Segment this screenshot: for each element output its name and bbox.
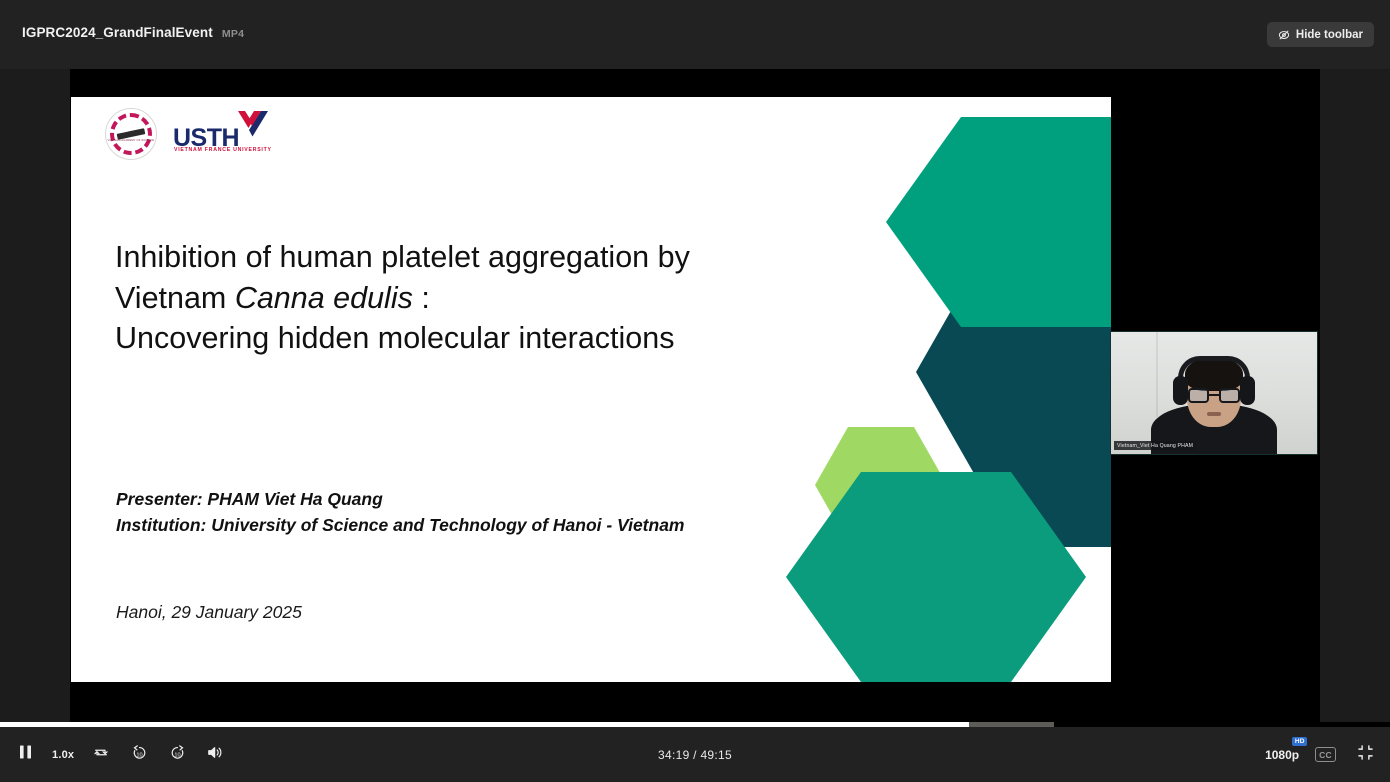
hd-badge: HD bbox=[1292, 737, 1307, 746]
webcam-wall-edge bbox=[1156, 332, 1158, 417]
hexagon-dark-teal bbox=[916, 197, 1111, 547]
hexagon-decoration-group bbox=[71, 97, 1111, 682]
usth-logo: USTH VIETNAM FRANCE UNIVERSITY bbox=[173, 111, 265, 157]
usth-chevron-icon bbox=[238, 111, 268, 137]
file-extension-badge: MP4 bbox=[222, 28, 245, 40]
forward-10-icon: 10 bbox=[169, 744, 186, 766]
slide-title-species: Canna edulis bbox=[235, 281, 413, 315]
slide-title-line-3: Uncovering hidden molecular interactions bbox=[115, 318, 815, 359]
presenter-name-line: Presenter: PHAM Viet Ha Quang bbox=[116, 487, 685, 513]
closed-captions-button[interactable]: CC bbox=[1315, 747, 1336, 762]
svg-text:10: 10 bbox=[136, 752, 142, 758]
time-display: 34:19 / 49:15 bbox=[658, 727, 732, 782]
rewind-10-icon: 10 bbox=[131, 744, 148, 766]
hexagon-teal-bottom bbox=[786, 472, 1086, 682]
usth-tagline: VIETNAM FRANCE UNIVERSITY bbox=[174, 147, 272, 153]
player-controls-right: 1080p HD CC bbox=[1265, 727, 1378, 782]
webcam-participant-label: Vietnam_Viet Ha Quang PHAM bbox=[1114, 441, 1196, 450]
file-title: IGPRC2024_GrandFinalEvent bbox=[22, 25, 213, 40]
player-controls-left: 1.0x 10 bbox=[12, 727, 228, 782]
quality-label: 1080p bbox=[1265, 748, 1299, 762]
presenter-block: Presenter: PHAM Viet Ha Quang Institutio… bbox=[116, 487, 685, 538]
slide-title-line-1: Inhibition of human platelet aggregation… bbox=[115, 237, 815, 278]
loop-icon bbox=[93, 745, 109, 765]
institution-line: Institution: University of Science and T… bbox=[116, 513, 685, 539]
file-title-group: IGPRC2024_GrandFinalEvent MP4 bbox=[22, 25, 244, 40]
hide-toolbar-button[interactable]: Hide toolbar bbox=[1267, 22, 1374, 47]
slide-date-line: Hanoi, 29 January 2025 bbox=[116, 602, 302, 623]
slide-logo-row: VIETNAM ACADEMY OF SCIENCE USTH VIETNAM … bbox=[105, 108, 265, 160]
rewind-10-button[interactable]: 10 bbox=[126, 742, 152, 768]
video-stage: VIETNAM ACADEMY OF SCIENCE USTH VIETNAM … bbox=[0, 69, 1390, 722]
webcam-glasses-lens-left bbox=[1188, 388, 1209, 403]
webcam-glasses-icon bbox=[1188, 388, 1240, 403]
hide-toolbar-label: Hide toolbar bbox=[1296, 29, 1363, 41]
slide-title: Inhibition of human platelet aggregation… bbox=[115, 237, 815, 359]
webcam-person-mouth bbox=[1207, 412, 1221, 416]
pause-button[interactable] bbox=[12, 742, 38, 768]
top-toolbar: IGPRC2024_GrandFinalEvent MP4 Hide toolb… bbox=[0, 0, 1390, 69]
volume-icon bbox=[207, 745, 223, 765]
academy-seal-logo: VIETNAM ACADEMY OF SCIENCE bbox=[105, 108, 157, 160]
hexagon-light-green bbox=[815, 427, 947, 543]
forward-10-button[interactable]: 10 bbox=[164, 742, 190, 768]
hexagon-teal-top bbox=[886, 117, 1111, 327]
playback-speed-button[interactable]: 1.0x bbox=[50, 749, 76, 761]
video-viewport[interactable]: VIETNAM ACADEMY OF SCIENCE USTH VIETNAM … bbox=[70, 69, 1320, 722]
webcam-headphone-band bbox=[1178, 356, 1250, 378]
webcam-glasses-lens-right bbox=[1219, 388, 1240, 403]
slide-title-line-2-prefix: Vietnam bbox=[115, 281, 235, 315]
player-controls-bar: 1.0x 10 bbox=[0, 727, 1390, 782]
exit-fullscreen-button[interactable] bbox=[1352, 742, 1378, 768]
webcam-headphone-left bbox=[1173, 376, 1188, 405]
slide-title-line-2: Vietnam Canna edulis : bbox=[115, 278, 815, 319]
webcam-headphone-right bbox=[1240, 376, 1255, 405]
presentation-slide: VIETNAM ACADEMY OF SCIENCE USTH VIETNAM … bbox=[71, 97, 1111, 682]
svg-text:10: 10 bbox=[174, 752, 180, 758]
seal-caption: VIETNAM ACADEMY OF SCIENCE bbox=[108, 139, 155, 142]
quality-selector[interactable]: 1080p HD bbox=[1265, 748, 1299, 762]
webcam-overlay-tile[interactable]: Vietnam_Viet Ha Quang PHAM bbox=[1110, 331, 1318, 455]
pause-icon bbox=[19, 745, 32, 764]
slide-title-line-2-suffix: : bbox=[413, 281, 430, 315]
eye-slash-icon bbox=[1278, 29, 1290, 41]
volume-button[interactable] bbox=[202, 742, 228, 768]
webcam-glasses-bridge bbox=[1209, 394, 1219, 396]
exit-fullscreen-icon bbox=[1358, 745, 1373, 765]
loop-button[interactable] bbox=[88, 742, 114, 768]
